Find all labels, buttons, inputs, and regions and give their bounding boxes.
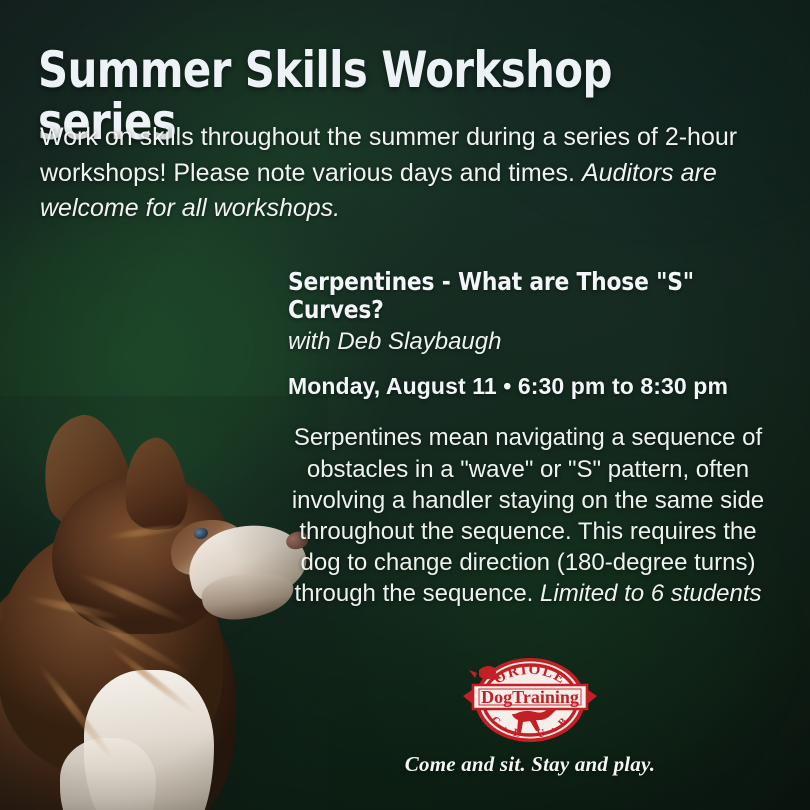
session-limit-note: Limited to 6 students (540, 580, 761, 607)
session-datetime: Monday, August 11 • 6:30 pm to 8:30 pm (288, 373, 768, 401)
session-title: Serpentines - What are Those "S" Curves? (288, 268, 754, 324)
session-description: Serpentines mean navigating a sequence o… (288, 422, 768, 609)
intro-paragraph: Work on skills throughout the summer dur… (40, 120, 780, 227)
tagline: Come and sit. Stay and play. (330, 752, 730, 777)
poster-canvas: Summer Skills Workshop series Work on sk… (0, 0, 810, 810)
logo-banner-text: DogTraining (481, 687, 579, 707)
club-logo: · ORIOLE · C · L · U · B (457, 652, 603, 748)
club-logo-svg: · ORIOLE · C · L · U · B (457, 652, 603, 748)
session-block: Serpentines - What are Those "S" Curves?… (288, 268, 768, 610)
poster-content: Summer Skills Workshop series Work on sk… (0, 0, 810, 810)
session-instructor: with Deb Slaybaugh (288, 328, 768, 357)
